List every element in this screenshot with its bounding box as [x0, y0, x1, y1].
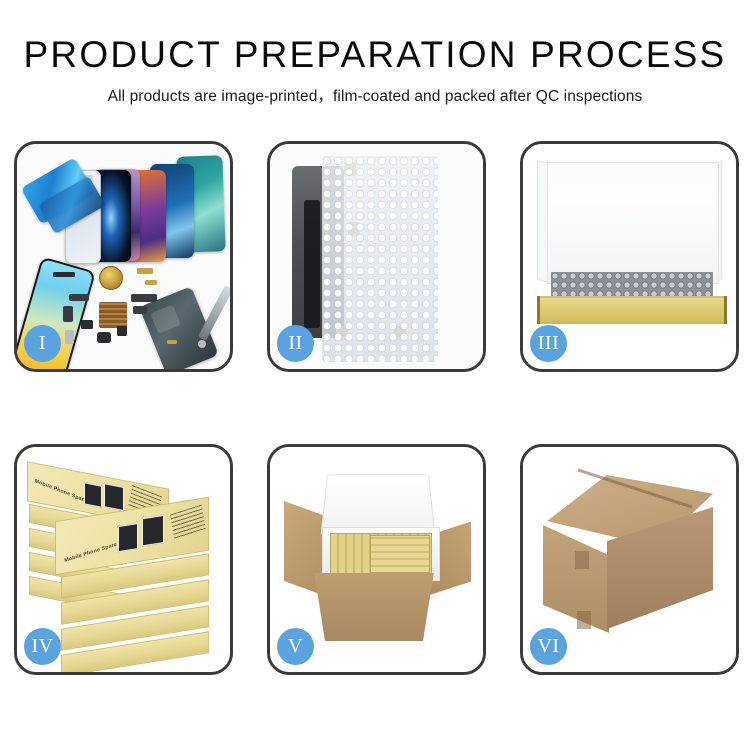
process-step-panel-3[interactable]: III — [520, 141, 739, 372]
part-vibrator-icon — [97, 332, 111, 343]
step-1-illustration: I — [17, 144, 230, 369]
wrapped-flex-cable-icon — [304, 200, 320, 328]
step-badge-2: II — [277, 325, 314, 362]
carton-tape-upper-icon — [575, 551, 589, 569]
process-step-grid: I II III — [14, 141, 740, 675]
part-ribbon-icon — [131, 294, 157, 302]
page-title: PRODUCT PREPARATION PROCESS — [0, 36, 750, 75]
process-step-panel-2[interactable]: II — [267, 141, 486, 372]
process-step-panel-6[interactable]: VI — [520, 444, 739, 675]
part-button-icon — [117, 326, 127, 336]
speaker-coil-icon — [99, 266, 123, 290]
step-badge-1: I — [24, 325, 61, 362]
box-art-thumb-1 — [84, 482, 102, 507]
part-screw-icon — [167, 340, 177, 344]
logic-board-chip-icon — [99, 302, 127, 328]
inner-boxes-row-2-icon — [370, 535, 430, 573]
process-step-panel-5[interactable]: V — [267, 444, 486, 675]
box-art-thumb-4 — [142, 515, 164, 546]
page-header: PRODUCT PREPARATION PROCESS All products… — [0, 0, 750, 106]
step-badge-6: VI — [530, 628, 567, 665]
part-gold-connector-icon — [137, 268, 153, 274]
box-art-thumb-3 — [118, 523, 138, 552]
process-step-panel-4[interactable]: Mobile Phone Spare Parts Mobile Phone Sp… — [14, 444, 233, 675]
foam-sheet-icon — [549, 184, 715, 276]
carton-tape-lower-icon — [577, 611, 591, 629]
part-strip-icon — [53, 272, 75, 277]
step-6-illustration: VI — [523, 447, 736, 672]
step-badge-3: III — [530, 325, 567, 362]
box-spec-text-front — [170, 505, 206, 540]
carton-front-panel-icon — [306, 573, 442, 641]
bubble-layer-icon — [551, 272, 713, 296]
inner-box-front-panel-icon — [537, 296, 727, 324]
part-washer-icon — [198, 340, 206, 348]
page-subtitle: All products are image-printed，film-coat… — [0, 84, 750, 106]
step-2-illustration: II — [270, 144, 483, 369]
part-sim-tray-icon — [65, 330, 74, 344]
step-badge-5: V — [277, 628, 314, 665]
step-3-illustration: III — [523, 144, 736, 369]
step-badge-4: IV — [24, 628, 61, 665]
bubble-wrap-icon — [322, 156, 438, 362]
process-step-panel-1[interactable]: I — [14, 141, 233, 372]
part-module-icon — [133, 306, 147, 314]
part-gold-clip-icon — [145, 280, 157, 285]
step-5-illustration: V — [270, 447, 483, 672]
part-camera-icon — [81, 320, 93, 329]
step-4-illustration: Mobile Phone Spare Parts Mobile Phone Sp… — [17, 447, 230, 672]
part-flex-cable-icon — [69, 294, 89, 301]
part-bracket-icon — [63, 306, 73, 322]
box-art-thumb-2 — [104, 483, 124, 511]
